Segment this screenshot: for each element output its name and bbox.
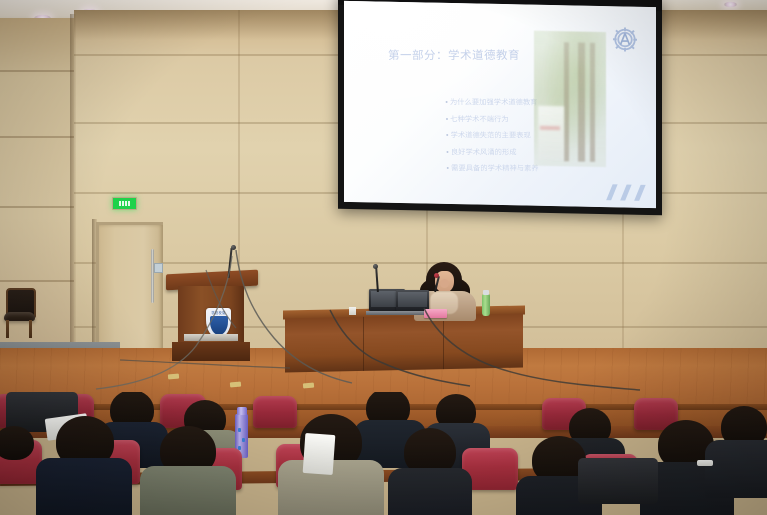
- slide-bullet: 需要具备的学术精神与素养: [446, 163, 538, 173]
- exit-sign-icon: [112, 197, 137, 210]
- university-gear-logo-icon: [610, 24, 640, 55]
- floor-cables: [0, 250, 767, 410]
- auditorium-photo: 第一部分：学术道德教育 为什么要加强学术道德教育 七种学术不端行为 学术道德失范…: [0, 0, 767, 515]
- cable-tape: [303, 383, 314, 389]
- slide-bullet: 学术道德失范的主要表现: [446, 130, 538, 140]
- side-chair: [4, 288, 36, 336]
- slide-bullet: 为什么要加强学术道德教育: [445, 97, 537, 107]
- auditorium-seat[interactable]: [253, 396, 297, 428]
- black-shoulder-bag[interactable]: [578, 458, 658, 504]
- slide-campus-photo: [534, 31, 606, 167]
- slide-bullet-list: 为什么要加强学术道德教育 七种学术不端行为 学术道德失范的主要表现 良好学术风涌…: [405, 97, 539, 180]
- slide-bullet: 良好学术风涌的形成: [446, 147, 538, 157]
- cable-tape: [230, 382, 241, 388]
- downlight-icon: [724, 2, 737, 7]
- white-papers: [697, 460, 713, 466]
- screen-surface: 第一部分：学术道德教育 为什么要加强学术道德教育 七种学术不端行为 学术道德失范…: [344, 1, 656, 208]
- projection-screen: 第一部分：学术道德教育 为什么要加强学术道德教育 七种学术不端行为 学术道德失范…: [338, 0, 662, 215]
- slide-decor-stripes: [566, 183, 652, 201]
- cable-tape: [168, 374, 179, 380]
- white-papers: [303, 433, 336, 475]
- slide-bullet: 七种学术不端行为: [446, 114, 538, 124]
- slide-title: 第一部分：学术道德教育: [388, 47, 520, 63]
- audience-area: [0, 392, 767, 515]
